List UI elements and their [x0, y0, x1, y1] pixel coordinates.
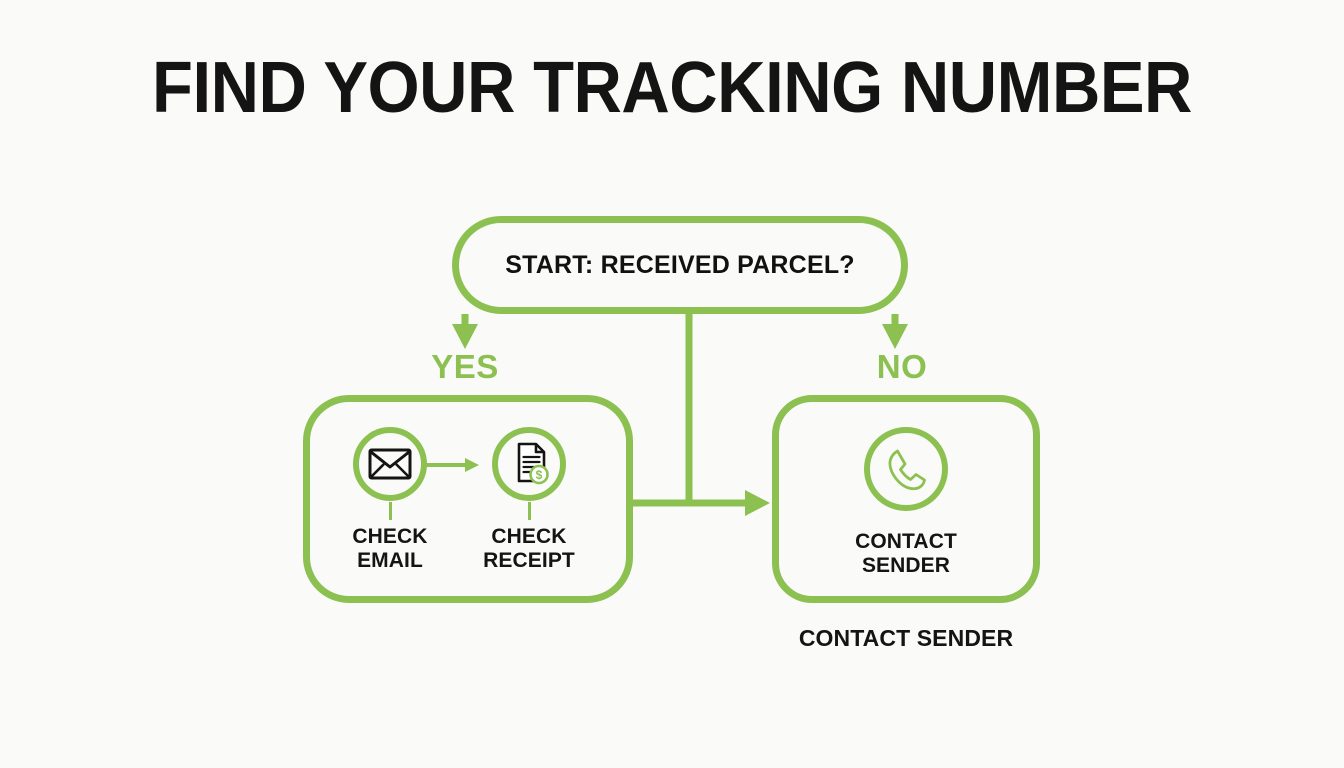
step-contact-sender[interactable]: CONTACT SENDER: [836, 427, 976, 577]
step-label-line1: CONTACT: [836, 530, 976, 554]
flowchart-canvas: FIND YOUR TRACKING NUMBER START: RECEIVE…: [0, 0, 1344, 768]
phone-icon: [881, 444, 931, 494]
step-check-receipt-label: CHECK RECEIPT: [459, 525, 599, 572]
start-node[interactable]: START: RECEIVED PARCEL?: [452, 216, 908, 314]
svg-text:$: $: [536, 468, 543, 482]
step-contact-sender-label: CONTACT SENDER: [836, 530, 976, 577]
step-label-line1: CHECK: [459, 525, 599, 549]
step-label-line2: RECEIPT: [459, 549, 599, 573]
arrowhead-contact: [745, 490, 770, 516]
receipt-dollar-icon-circle: $: [492, 427, 566, 501]
step-check-receipt[interactable]: $ CHECK RECEIPT: [459, 427, 599, 572]
step-label-line2: EMAIL: [320, 549, 460, 573]
start-node-label: START: RECEIVED PARCEL?: [459, 223, 901, 307]
contact-sender-caption: CONTACT SENDER: [772, 625, 1040, 652]
step-check-email[interactable]: CHECK EMAIL: [320, 427, 460, 572]
branch-label-yes: YES: [428, 348, 502, 386]
step-label-line1: CHECK: [320, 525, 460, 549]
envelope-icon: [368, 448, 412, 480]
envelope-icon-circle: [353, 427, 427, 501]
connector-layer: [0, 0, 1344, 768]
step-stem: [389, 502, 392, 520]
step-stem: [528, 502, 531, 520]
phone-icon-circle: [864, 427, 948, 511]
branch-label-no: NO: [866, 348, 938, 386]
arrowhead-no: [882, 324, 908, 349]
receipt-dollar-icon: $: [506, 441, 552, 487]
step-label-line2: SENDER: [836, 554, 976, 578]
arrowhead-yes: [452, 324, 478, 349]
step-check-email-label: CHECK EMAIL: [320, 525, 460, 572]
